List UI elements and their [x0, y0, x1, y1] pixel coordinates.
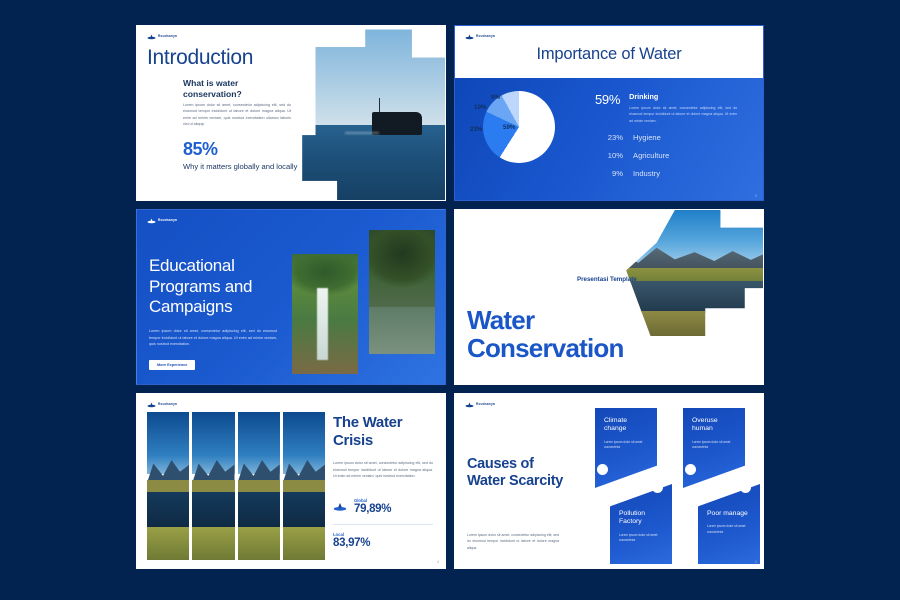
cover-pretitle: Presentasi Template	[577, 276, 637, 285]
card-title: Overuse human	[692, 417, 737, 434]
water-drop-icon	[465, 402, 474, 408]
slide-body-text: Lorem ipsum dolor sit amet, consectetur …	[149, 328, 277, 348]
more-experience-button[interactable]: More Experience	[149, 360, 195, 370]
card-text: Lorem ipsum dolor sit amet consectetur	[692, 440, 737, 451]
legend-item-label: Agriculture	[633, 151, 669, 160]
water-drop-icon	[465, 34, 474, 40]
divider	[333, 524, 433, 525]
slide-the-water-crisis[interactable]: Roudsanya	[136, 393, 446, 569]
slide-body-text: Lorem ipsum dolor sit amet, consectetur …	[333, 460, 433, 480]
stat-local: Local 83,97%	[333, 532, 370, 549]
pie-label-drinking: 59%	[503, 124, 515, 131]
photo-wake	[345, 132, 378, 134]
legend-item: 9% Industry	[595, 169, 755, 178]
pie-chart	[483, 91, 555, 163]
page-number: 2	[755, 194, 757, 198]
card-title: Pollution Factory	[619, 510, 664, 527]
slide-importance-of-water[interactable]: Roudsanya Importance of Water 59% 23% 10…	[454, 25, 764, 201]
slide-body-text: Lorem ipsum dolor sit amet, consectetur …	[467, 532, 559, 551]
slide-title: The Water Crisis	[333, 414, 437, 449]
brand-name: Roudsanya	[476, 403, 495, 406]
brand-logo: Roudsanya	[465, 34, 495, 40]
page-number: 5	[755, 560, 757, 564]
photo-sky	[279, 26, 445, 125]
cover-title: Water Conservation	[467, 306, 624, 362]
card-title: Poor manage	[707, 510, 752, 518]
slide-introduction[interactable]: Roudsanya Introduction What is water con…	[136, 25, 446, 201]
boat-photo	[279, 26, 445, 201]
legend-primary: 59% Drinking Lorem ipsum dolor sit amet,…	[595, 92, 755, 124]
legend-item-label: Industry	[633, 169, 660, 178]
water-drop-icon	[147, 34, 156, 40]
slide-title: Importance of Water	[455, 45, 763, 64]
brand-logo: Roudsanya	[147, 218, 177, 224]
water-drop-icon	[333, 502, 347, 512]
pie-label-hygiene: 23%	[470, 126, 482, 133]
brand-name: Roudsanya	[158, 35, 177, 38]
pie-label-industry: 9%	[491, 94, 500, 101]
photo-strip	[283, 412, 325, 560]
card-text: Lorem ipsum dolor sit amet consectetur	[619, 533, 664, 544]
stat-value: 79,89%	[354, 503, 391, 515]
legend-item-pct: 10%	[599, 151, 623, 160]
mountain-lake-photo	[611, 210, 763, 336]
photo-strip	[147, 412, 189, 560]
cover-title-line2: Conservation	[467, 334, 624, 362]
brand-name: Roudsanya	[158, 219, 177, 222]
photo-strip	[192, 412, 234, 560]
stat-value: 85%	[183, 139, 218, 160]
waterfall-photo	[292, 254, 358, 374]
page-number: 4	[437, 560, 439, 564]
brand-logo: Roudsanya	[147, 34, 177, 40]
photo-reeds	[147, 527, 189, 560]
photo-reeds	[192, 527, 234, 560]
legend-list: 59% Drinking Lorem ipsum dolor sit amet,…	[595, 92, 755, 178]
card-text: Lorem ipsum dolor sit amet consectetur	[604, 440, 649, 451]
pond-photo	[369, 230, 435, 354]
card-dot-icon	[740, 482, 751, 493]
photo-lake	[611, 281, 763, 314]
card-dot-icon	[652, 482, 663, 493]
cover-title-line1: Water	[467, 306, 624, 334]
brand-logo: Roudsanya	[465, 402, 495, 408]
legend-item-pct: 23%	[599, 133, 623, 142]
legend-primary-label: Drinking	[629, 92, 737, 101]
slide-title: Educational Programs and Campaigns	[149, 256, 289, 318]
water-drop-icon	[147, 218, 156, 224]
card-dot-icon	[597, 464, 608, 475]
card-dot-icon	[685, 464, 696, 475]
brand-name: Roudsanya	[158, 403, 177, 406]
photo-water	[369, 307, 435, 354]
cause-card-climate-change[interactable]: Climate change Lorem ipsum dolor sit ame…	[595, 408, 657, 488]
slide-body-text: Lorem ipsum dolor sit amet, consectetur …	[183, 102, 291, 128]
legend-item: 10% Agriculture	[595, 151, 755, 160]
photo-reeds	[238, 527, 280, 560]
legend-primary-text: Lorem ipsum dolor sit amet, consectetur …	[629, 105, 737, 124]
pie-label-agriculture: 10%	[474, 104, 486, 111]
photo-strip-group	[147, 412, 325, 560]
cause-card-overuse-human[interactable]: Overuse human Lorem ipsum dolor sit amet…	[683, 408, 745, 488]
slide-grid: Roudsanya Introduction What is water con…	[136, 25, 764, 573]
brand-logo: Roudsanya	[147, 402, 177, 408]
cause-card-pollution-factory[interactable]: Pollution Factory Lorem ipsum dolor sit …	[610, 484, 672, 564]
card-text: Lorem ipsum dolor sit amet consectetur	[707, 524, 752, 535]
photo-reeds	[283, 527, 325, 560]
photo-shore	[611, 311, 763, 336]
photo-sea	[279, 125, 445, 201]
stat-value: 83,97%	[333, 537, 370, 549]
brand-name: Roudsanya	[476, 35, 495, 38]
photo-leaves	[369, 230, 435, 288]
slide-title: Introduction	[147, 46, 253, 70]
slide-content-panel: 59% 23% 10% 9% 59% Drinking Lorem ipsum …	[455, 78, 763, 201]
stat-global: Global 79,89%	[333, 498, 391, 515]
slide-title: Causes of Water Scarcity	[467, 456, 567, 491]
stat-row: Global 79,89%	[333, 498, 391, 515]
slide-causes-of-water-scarcity[interactable]: Roudsanya Causes of Water Scarcity Lorem…	[454, 393, 764, 569]
water-drop-icon	[147, 402, 156, 408]
slide-educational-programs[interactable]: Roudsanya Educational Programs and Campa…	[136, 209, 446, 385]
legend-item: 23% Hygiene	[595, 133, 755, 142]
stat-caption: Why it matters globally and locally	[183, 162, 298, 172]
slide-cover[interactable]: Presentasi Template Water Conservation	[454, 209, 764, 385]
legend-item-pct: 9%	[599, 169, 623, 178]
slide-board: Roudsanya Introduction What is water con…	[0, 0, 900, 600]
slide-subtitle: What is water conservation?	[183, 78, 295, 100]
photo-boat	[372, 112, 422, 135]
card-title: Climate change	[604, 417, 649, 434]
photo-waterfall	[317, 288, 328, 360]
legend-primary-pct: 59%	[595, 92, 620, 107]
legend-item-label: Hygiene	[633, 133, 661, 142]
photo-strip	[238, 412, 280, 560]
cause-card-poor-manage[interactable]: Poor manage Lorem ipsum dolor sit amet c…	[698, 484, 760, 564]
